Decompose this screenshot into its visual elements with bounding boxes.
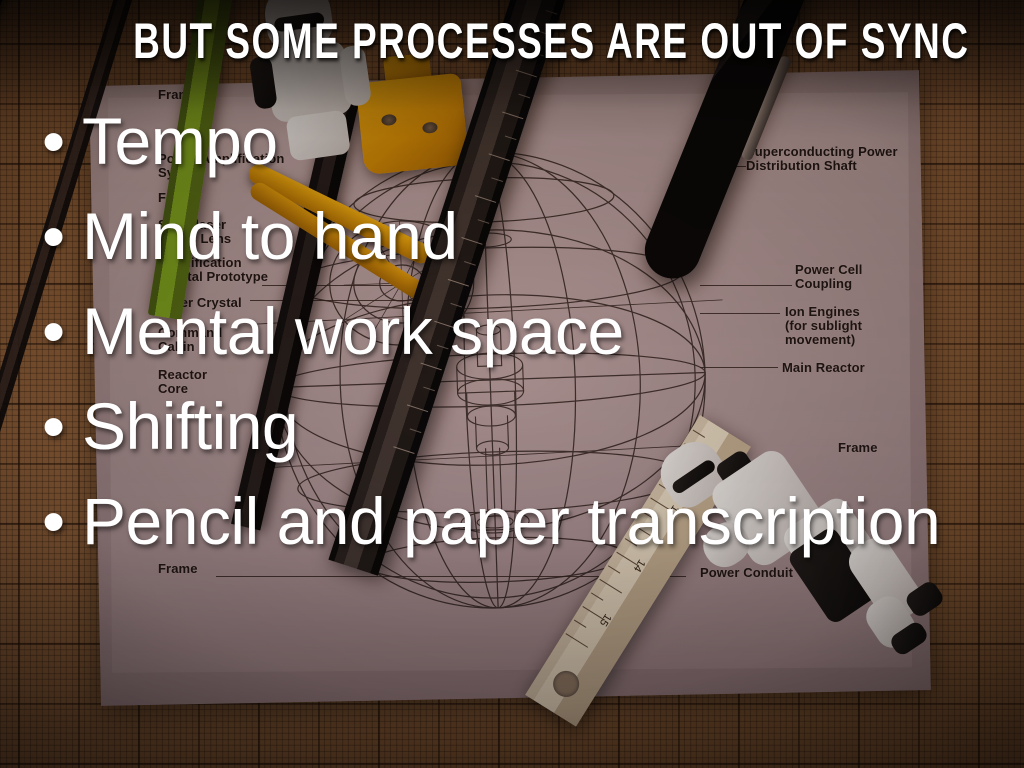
list-item-label: Shifting — [82, 379, 984, 474]
bullet-marker-icon: • — [42, 474, 82, 569]
list-item: • Mind to hand — [42, 189, 984, 284]
bullet-marker-icon: • — [42, 284, 82, 379]
slide-title: BUT SOME PROCESSES ARE OUT OF SYNC — [133, 16, 891, 66]
bullet-marker-icon: • — [42, 379, 82, 474]
list-item-label: Tempo — [82, 94, 984, 189]
list-item: • Shifting — [42, 379, 984, 474]
list-item: • Pencil and paper transcription — [42, 474, 984, 569]
list-item-label: Mind to hand — [82, 189, 984, 284]
list-item: • Mental work space — [42, 284, 984, 379]
list-item-label: Mental work space — [82, 284, 984, 379]
bullet-marker-icon: • — [42, 189, 82, 284]
list-item-label: Pencil and paper transcription — [82, 474, 984, 569]
presentation-slide: Frame Power Amplification System Focus S… — [0, 0, 1024, 768]
list-item: • Tempo — [42, 94, 984, 189]
bullet-list: • Tempo • Mind to hand • Mental work spa… — [42, 94, 984, 569]
bullet-marker-icon: • — [42, 94, 82, 189]
